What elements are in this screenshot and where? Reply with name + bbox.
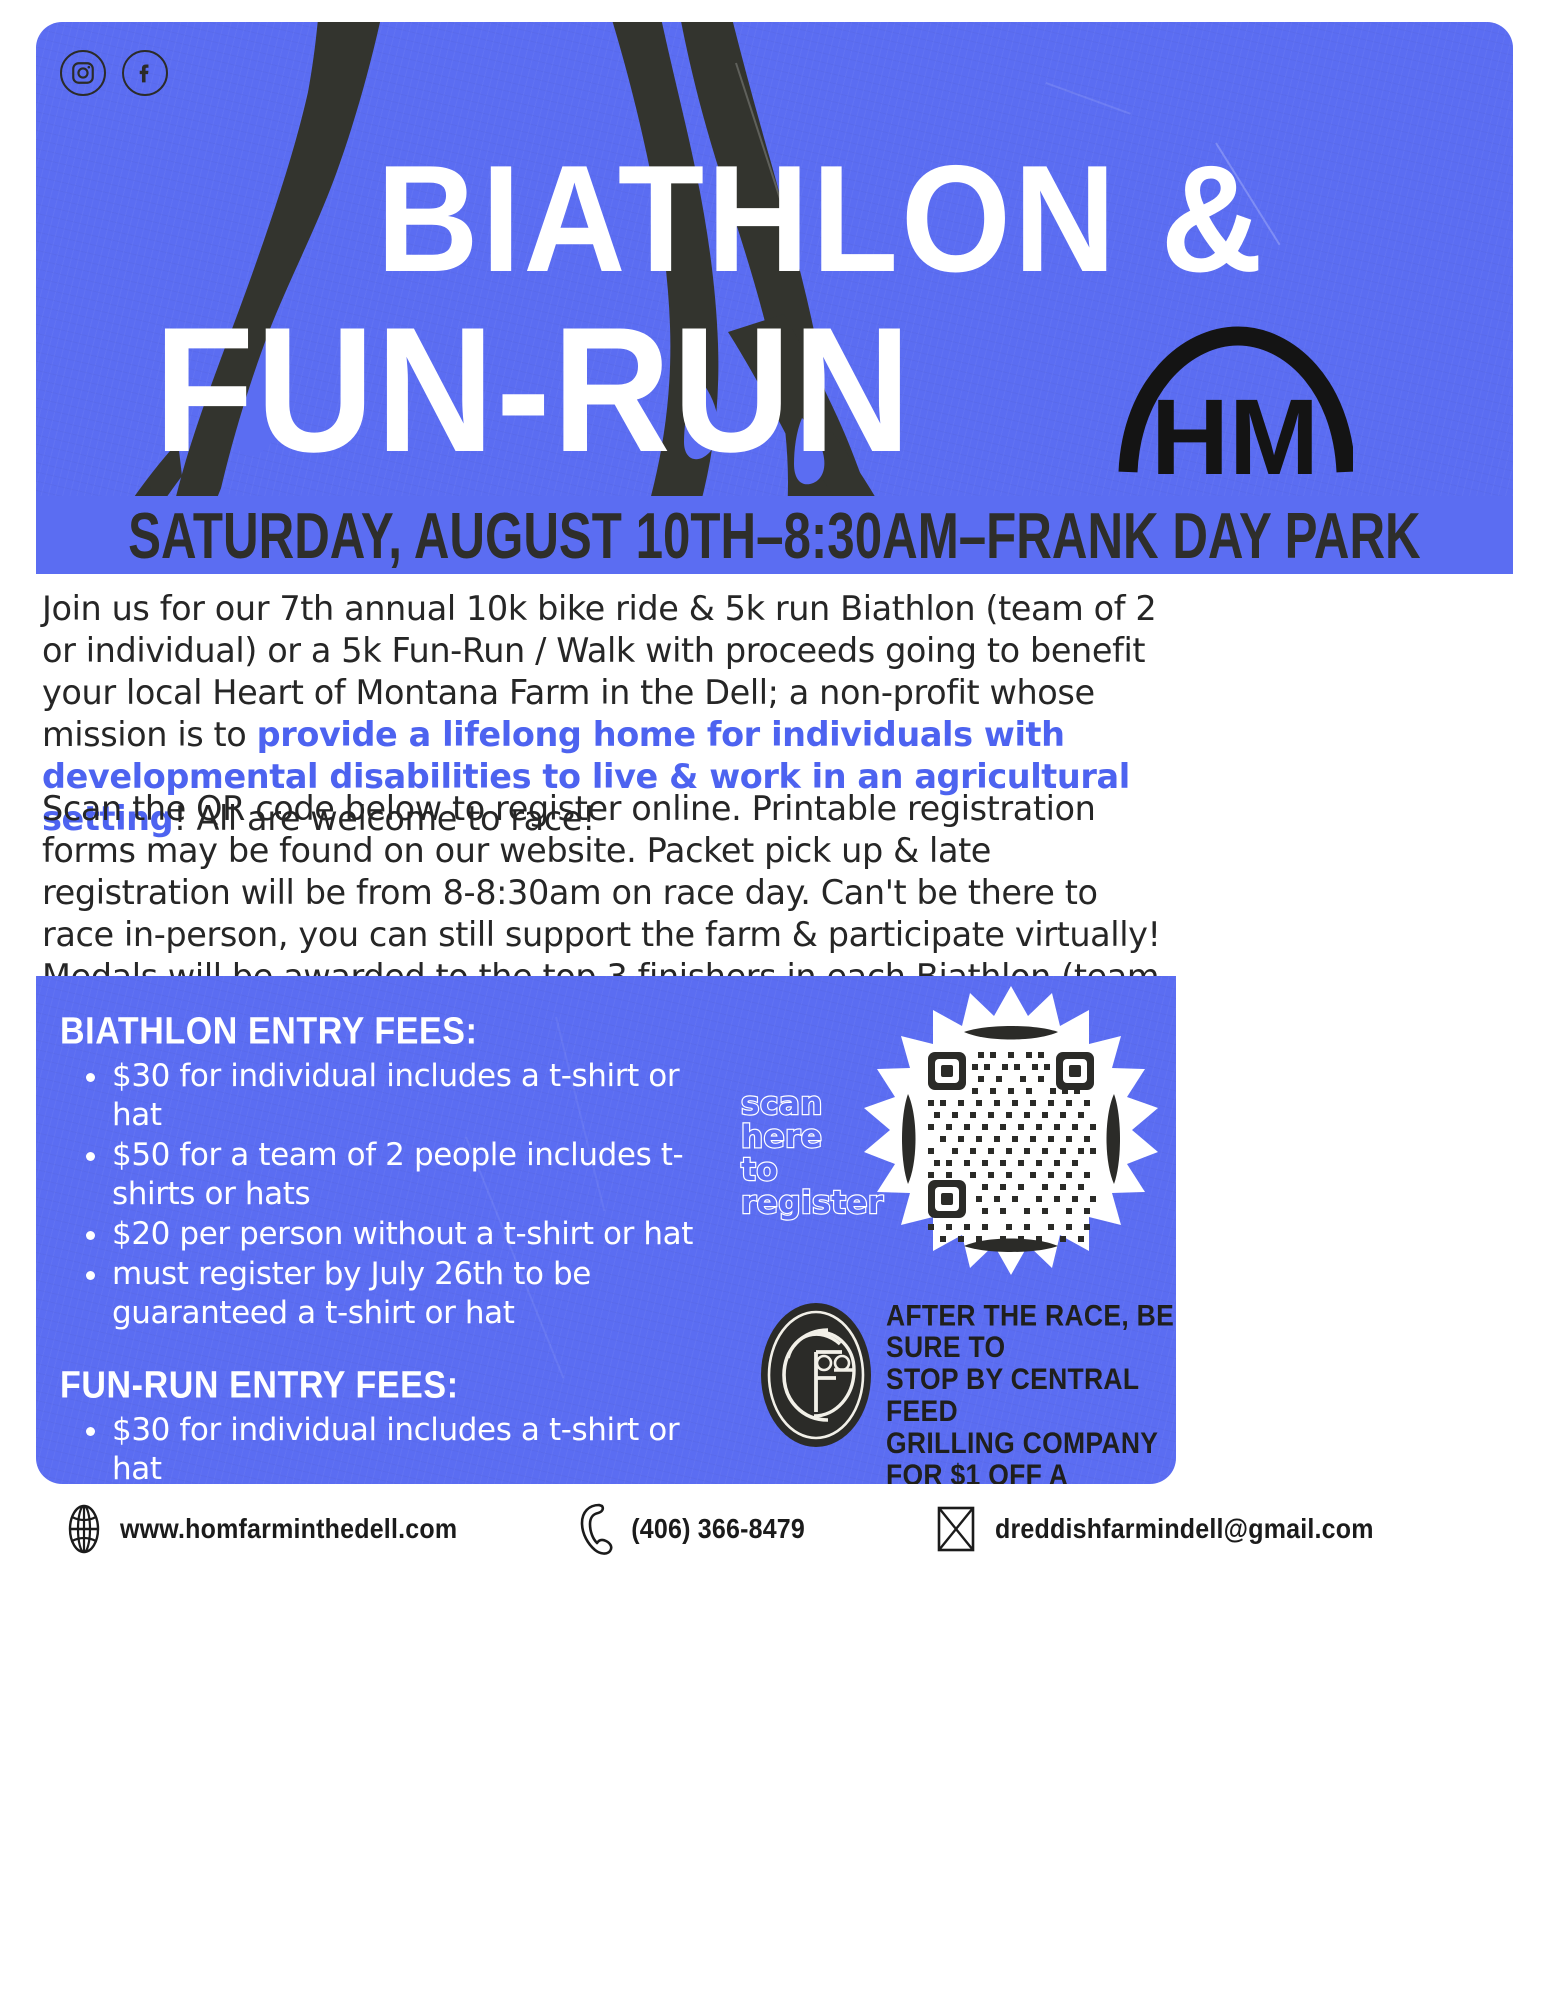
runner-legs-illustration xyxy=(36,22,1196,574)
biathlon-fees-heading: BIATHLON ENTRY FEES: xyxy=(60,1010,720,1054)
date-banner-text: SATURDAY, AUGUST 10TH–8:30AM–FRANK DAY P… xyxy=(128,497,1421,572)
footer: www.homfarminthedell.com (406) 366-8479 … xyxy=(36,1494,1513,1564)
scratch-line xyxy=(1215,142,1280,245)
central-feed-logo xyxy=(758,1300,874,1450)
biathlon-fees-list: $30 for individual includes a t-shirt or… xyxy=(82,1057,720,1333)
qr-code[interactable] xyxy=(856,984,1166,1294)
list-item: must register by July 26th to be guarant… xyxy=(82,1255,720,1333)
sponsor-line-1: AFTER THE RACE, BE SURE TO xyxy=(886,1300,1176,1364)
funrun-fees-heading: FUN-RUN ENTRY FEES: xyxy=(60,1364,720,1408)
footer-email[interactable]: dreddishfarmindell@gmail.com xyxy=(931,1502,1374,1556)
footer-website-text: www.homfarminthedell.com xyxy=(120,1513,457,1545)
list-item: $30 for individual includes a t-shirt or… xyxy=(82,1057,720,1135)
globe-icon xyxy=(62,1504,106,1554)
sponsor-block: AFTER THE RACE, BE SURE TO STOP BY CENTR… xyxy=(736,1294,1166,1474)
sponsor-line-3: GRILLING COMPANY FOR $1 OFF A xyxy=(886,1428,1176,1484)
footer-phone-text: (406) 366-8479 xyxy=(631,1513,805,1545)
date-banner: SATURDAY, AUGUST 10TH–8:30AM–FRANK DAY P… xyxy=(36,496,1513,574)
fees-panel: BIATHLON ENTRY FEES: $30 for individual … xyxy=(36,976,1176,1484)
spacer xyxy=(60,1334,720,1364)
funrun-fees-list: $30 for individual includes a t-shirt or… xyxy=(82,1411,720,1484)
list-item: $30 for individual includes a t-shirt or… xyxy=(82,1411,720,1484)
sponsor-line-2: STOP BY CENTRAL FEED xyxy=(886,1364,1176,1428)
hero-banner: BIATHLON & FUN-RUN HM xyxy=(36,22,1513,574)
footer-website[interactable]: www.homfarminthedell.com xyxy=(62,1504,457,1554)
footer-phone[interactable]: (406) 366-8479 xyxy=(577,1502,805,1556)
sponsor-text: AFTER THE RACE, BE SURE TO STOP BY CENTR… xyxy=(886,1300,1176,1484)
list-item: $50 for a team of 2 people includes t-sh… xyxy=(82,1136,720,1214)
flyer-page: BIATHLON & FUN-RUN HM SATURDAY, AUGUST 1… xyxy=(0,0,1545,2000)
phone-icon xyxy=(577,1502,617,1556)
envelope-icon xyxy=(931,1502,981,1556)
social-links[interactable] xyxy=(60,50,168,96)
hm-logo-text: HM xyxy=(1151,376,1319,482)
facebook-icon[interactable] xyxy=(122,50,168,96)
footer-email-text: dreddishfarmindell@gmail.com xyxy=(995,1513,1374,1545)
instagram-icon[interactable] xyxy=(60,50,106,96)
qr-block[interactable]: scan here to register xyxy=(736,988,1166,1288)
hm-logo: HM xyxy=(1118,322,1353,482)
fees-list-column: BIATHLON ENTRY FEES: $30 for individual … xyxy=(60,1010,720,1484)
list-item: $20 per person without a t-shirt or hat xyxy=(82,1215,720,1254)
